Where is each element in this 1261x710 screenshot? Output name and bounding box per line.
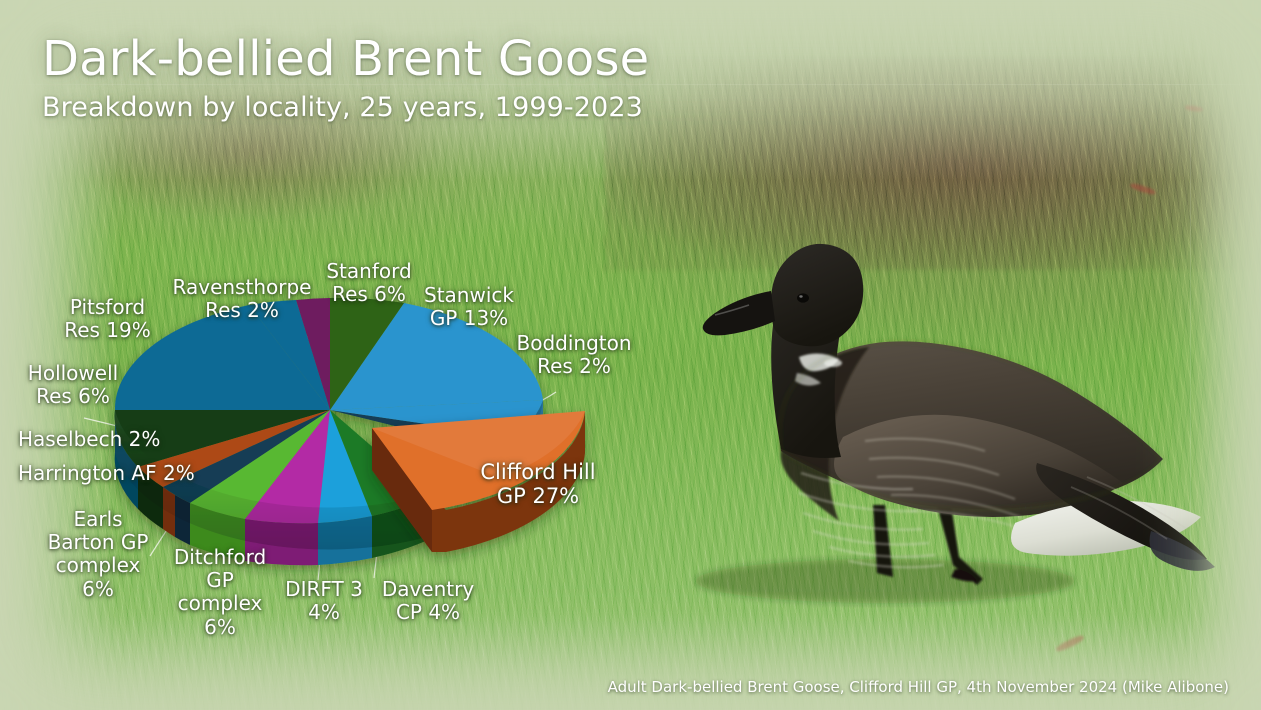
photo-caption: Adult Dark-bellied Brent Goose, Clifford… xyxy=(608,678,1229,696)
title-block: Dark-bellied Brent Goose Breakdown by lo… xyxy=(42,34,649,123)
pie-label-ditchford[interactable]: Ditchford GP complex 6% xyxy=(168,546,272,639)
page-title: Dark-bellied Brent Goose xyxy=(42,34,649,86)
pie-label-ravensthorpe[interactable]: Ravensthorpe Res 2% xyxy=(160,276,324,322)
pie-label-haselbech[interactable]: Haselbech 2% xyxy=(18,428,182,451)
pie-label-pitsford[interactable]: Pitsford Res 19% xyxy=(50,296,165,342)
pie-label-harrington[interactable]: Harrington AF 2% xyxy=(18,462,218,485)
page-subtitle: Breakdown by locality, 25 years, 1999-20… xyxy=(42,92,649,123)
pie-label-hollowell[interactable]: Hollowell Res 6% xyxy=(14,362,132,408)
pie-label-dirft3[interactable]: DIRFT 3 4% xyxy=(278,578,370,624)
pie-label-clifford-hill[interactable]: Clifford Hill GP 27% xyxy=(470,460,606,509)
pie-label-boddington[interactable]: Boddington Res 2% xyxy=(504,332,644,378)
pie-label-stanford[interactable]: Stanford Res 6% xyxy=(314,260,424,306)
pie-label-daventry[interactable]: Daventry CP 4% xyxy=(374,578,482,624)
pie-label-earls-barton[interactable]: Earls Barton GP complex 6% xyxy=(34,508,162,601)
pie-label-stanwick[interactable]: Stanwick GP 13% xyxy=(414,284,524,330)
slide-canvas: Dark-bellied Brent Goose Breakdown by lo… xyxy=(0,0,1261,710)
